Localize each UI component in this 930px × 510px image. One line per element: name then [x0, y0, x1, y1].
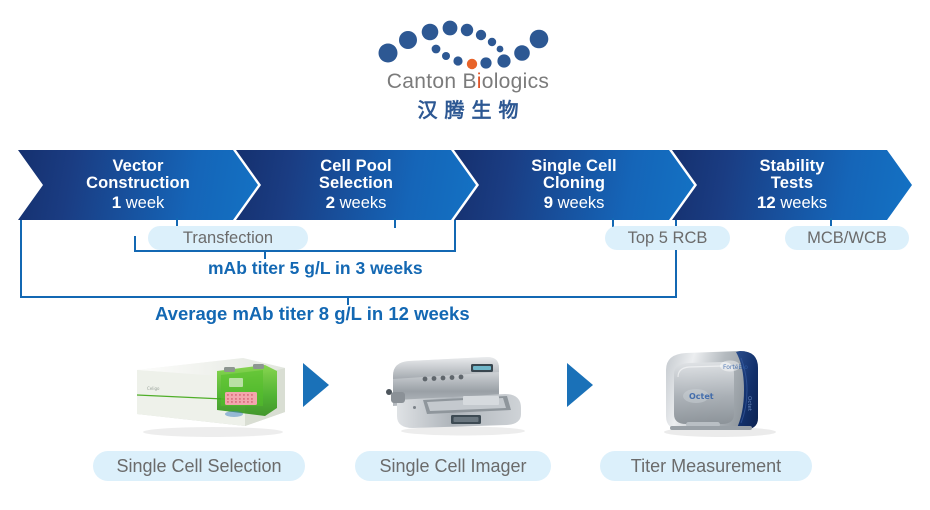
- titer-inner-label: mAb titer 5 g/L in 3 weeks: [208, 258, 423, 279]
- step-2-duration: 2 weeks: [326, 193, 387, 213]
- step-3-duration: 9 weeks: [544, 193, 605, 213]
- step-1-duration: 1 week: [112, 193, 165, 213]
- step-4-duration-unit: weeks: [780, 194, 827, 212]
- logo-chinese-name: 汉腾生物: [378, 94, 558, 123]
- process-step-3[interactable]: Single Cell Cloning 9 weeks: [454, 150, 694, 220]
- step-1-line2: Construction: [86, 175, 190, 193]
- step-4-line1: Stability: [759, 158, 824, 176]
- annotation-pill-mcbwcb[interactable]: MCB/WCB: [785, 226, 909, 250]
- logo-name-part2: ologics: [482, 70, 549, 93]
- flow-arrow-2: [567, 363, 593, 407]
- titer-outer-label: Average mAb titer 8 g/L in 12 weeks: [155, 303, 470, 325]
- flow-arrow-1: [303, 363, 329, 407]
- diagram-canvas: Canton Biologics 汉腾生物 Vector Constructio…: [0, 0, 930, 510]
- step-divider-2: [394, 218, 396, 228]
- process-chevron-bar: Vector Construction 1 week Cell Pool Sel…: [18, 150, 912, 220]
- single-cell-selection-instrument: Celigo: [125, 348, 295, 438]
- svg-text:Octet: Octet: [689, 392, 714, 401]
- step-1-duration-value: 1: [112, 193, 121, 212]
- titer-measurement-instrument: Octet FortéBio Octet: [648, 344, 798, 440]
- instrument-caption-2[interactable]: Single Cell Imager: [355, 451, 551, 481]
- step-4-duration-value: 12: [757, 193, 776, 212]
- step-3-line2: Cloning: [543, 175, 605, 193]
- step-2-duration-unit: weeks: [340, 194, 387, 212]
- step-2-line2: Selection: [319, 175, 393, 193]
- instrument-caption-3[interactable]: Titer Measurement: [600, 451, 812, 481]
- instrument-caption-3-label: Titer Measurement: [631, 456, 781, 477]
- svg-text:FortéBio: FortéBio: [723, 364, 748, 371]
- annotation-pill-mcbwcb-label: MCB/WCB: [807, 229, 887, 248]
- step-3-duration-unit: weeks: [558, 194, 605, 212]
- inner-bracket-left-stem: [20, 220, 22, 252]
- step-4-duration: 12 weeks: [757, 193, 827, 213]
- inner-bracket-right-stem: [454, 220, 456, 252]
- instrument-caption-1[interactable]: Single Cell Selection: [93, 451, 305, 481]
- annotation-pill-transfection[interactable]: Transfection: [148, 226, 308, 250]
- logo-name-part1: Canton B: [387, 70, 477, 93]
- step-3-duration-value: 9: [544, 193, 553, 212]
- step-1-duration-unit: week: [126, 194, 165, 212]
- process-step-2[interactable]: Cell Pool Selection 2 weeks: [236, 150, 476, 220]
- instrument-caption-2-label: Single Cell Imager: [379, 456, 526, 477]
- process-step-4[interactable]: Stability Tests 12 weeks: [672, 150, 912, 220]
- dna-helix-dots-icon: [378, 12, 558, 70]
- step-1-line1: Vector: [112, 158, 163, 176]
- step-4-line2: Tests: [771, 175, 813, 193]
- annotation-pill-top5rcb-label: Top 5 RCB: [628, 229, 708, 248]
- svg-text:Octet: Octet: [746, 396, 752, 412]
- inner-bracket-left-drop: [134, 236, 136, 252]
- inner-bracket-bottom: [134, 250, 456, 252]
- svg-text:Celigo: Celigo: [147, 386, 160, 391]
- single-cell-imager-instrument: [383, 348, 538, 438]
- company-logo: Canton Biologics 汉腾生物: [378, 12, 558, 117]
- process-step-1[interactable]: Vector Construction 1 week: [18, 150, 258, 220]
- step-2-line1: Cell Pool: [320, 158, 392, 176]
- logo-wordmark: Canton Biologics: [378, 70, 558, 94]
- annotation-pill-transfection-label: Transfection: [183, 229, 273, 248]
- annotation-pill-top5rcb[interactable]: Top 5 RCB: [605, 226, 730, 250]
- instrument-caption-1-label: Single Cell Selection: [116, 456, 281, 477]
- step-3-line1: Single Cell: [531, 158, 616, 176]
- step-2-duration-value: 2: [326, 193, 335, 212]
